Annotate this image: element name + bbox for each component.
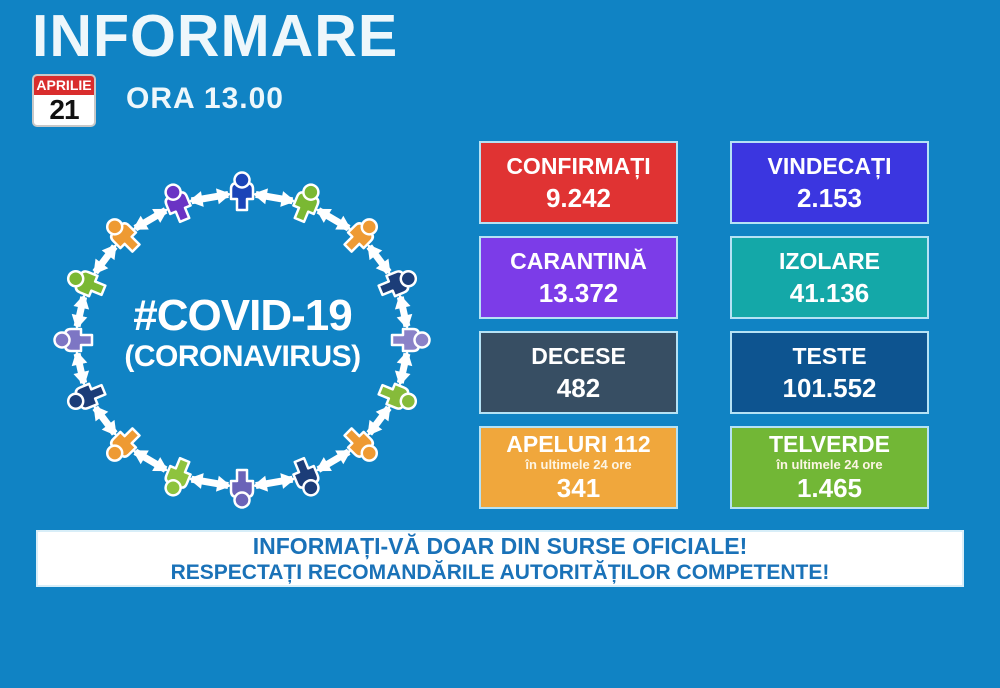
distance-arrow-icon [316, 450, 352, 471]
distance-arrow-icon [133, 450, 169, 471]
stat-card-confirma-i: CONFIRMAȚI9.242 [479, 141, 678, 224]
distance-arrow-icon [253, 188, 296, 206]
person-figures-group [55, 173, 430, 508]
distancing-circle-svg [35, 165, 450, 515]
distance-arrow-icon [93, 405, 116, 435]
hour-label: ORA 13.00 [126, 82, 284, 116]
stat-value: 9.242 [546, 182, 611, 214]
distance-arrow-icon [395, 351, 412, 386]
distance-arrow-icon [253, 473, 296, 491]
stat-label: CARANTINĂ [510, 247, 647, 275]
person-figure-icon [160, 181, 195, 224]
distance-arrow-icon [367, 405, 390, 435]
stat-card-vindeca-i: VINDECAȚI2.153 [730, 141, 929, 224]
person-figure-icon [289, 181, 324, 224]
stat-label: TESTE [792, 342, 866, 370]
stat-subtitle: în ultimele 24 ore [525, 457, 631, 472]
distance-arrow-icon [395, 294, 412, 329]
person-figure-icon [55, 329, 93, 351]
stat-value: 1.465 [797, 472, 862, 504]
date-badge-day: 21 [34, 95, 94, 125]
distance-arrow-icon [133, 209, 169, 230]
distance-arrow-icon [316, 209, 352, 230]
distance-arrow-icon [72, 351, 89, 386]
stat-label: DECESE [531, 342, 626, 370]
person-figure-icon [160, 456, 195, 499]
distance-arrow-icon [189, 188, 232, 206]
stat-card-telverde: TELVERDEîn ultimele 24 ore1.465 [730, 426, 929, 509]
stat-value: 101.552 [783, 372, 877, 404]
stat-card-carantin: CARANTINĂ13.372 [479, 236, 678, 319]
date-badge-month: APRILIE [34, 76, 94, 95]
stat-subtitle: în ultimele 24 ore [776, 457, 882, 472]
stat-value: 2.153 [797, 182, 862, 214]
stat-label: TELVERDE [769, 432, 890, 457]
stat-card-apeluri-112: APELURI 112în ultimele 24 ore341 [479, 426, 678, 509]
official-sources-notice: INFORMAȚI-VĂ DOAR DIN SURSE OFICIALE! RE… [36, 530, 964, 587]
person-figure-icon [231, 470, 253, 508]
infographic-page: INFORMARE APRILIE 21 ORA 13.00 #COVID-19… [0, 0, 1000, 688]
notice-line-1: INFORMAȚI-VĂ DOAR DIN SURSE OFICIALE! [253, 533, 748, 560]
person-figure-icon [231, 173, 253, 211]
stat-value: 341 [557, 472, 600, 504]
stat-card-decese: DECESE482 [479, 331, 678, 414]
distance-arrow-icon [367, 244, 390, 274]
stat-value: 13.372 [539, 277, 619, 309]
footer: GRUPUL DE COMUNICARE STRATEGICĂ M.A.I. [0, 596, 1000, 688]
stat-card-izolare: IZOLARE41.136 [730, 236, 929, 319]
social-distancing-illustration: #COVID-19 (CORONAVIRUS) [35, 165, 450, 515]
stat-label: VINDECAȚI [768, 152, 892, 180]
stat-value: 482 [557, 372, 600, 404]
person-figure-icon [392, 329, 430, 351]
stat-card-teste: TESTE101.552 [730, 331, 929, 414]
stat-label: CONFIRMAȚI [506, 152, 650, 180]
notice-line-2: RESPECTAȚI RECOMANDĂRILE AUTORITĂȚILOR C… [171, 560, 830, 585]
person-figure-icon [289, 456, 324, 499]
statistics-grid: CONFIRMAȚI9.242VINDECAȚI2.153CARANTINĂ13… [479, 141, 929, 509]
distance-arrow-icon [93, 244, 116, 274]
distance-arrow-icon [189, 473, 232, 491]
stat-value: 41.136 [790, 277, 870, 309]
distance-arrow-icon [72, 294, 89, 329]
page-title: INFORMARE [32, 6, 398, 68]
stat-label: IZOLARE [779, 247, 880, 275]
date-badge: APRILIE 21 [32, 74, 96, 127]
stat-label: APELURI 112 [506, 432, 650, 457]
